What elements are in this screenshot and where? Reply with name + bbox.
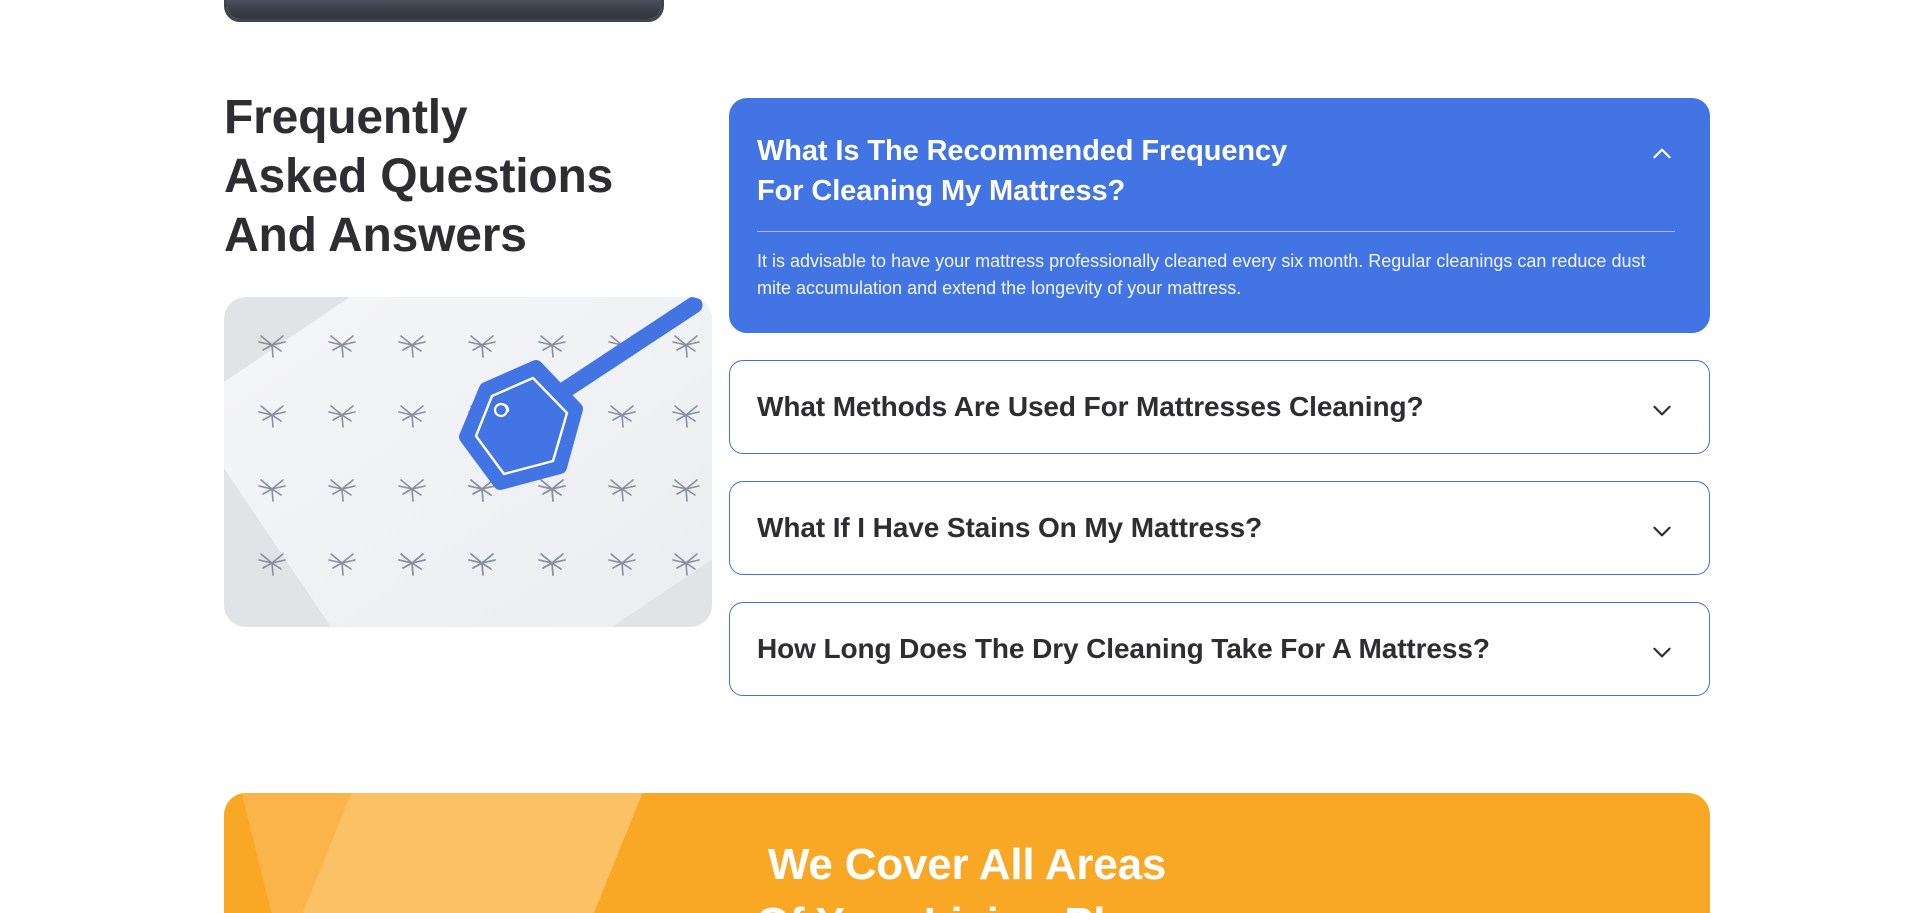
faq-item-1-answer: It is advisable to have your mattress pr… [730, 232, 1709, 328]
faq-page: Frequently Asked Questions And Answers [0, 0, 1920, 913]
faq-accordion: What Is The Recommended Frequency For Cl… [729, 98, 1710, 723]
vacuum-head-icon [224, 297, 712, 627]
chevron-down-icon[interactable] [1649, 518, 1675, 544]
faq-item-4[interactable]: How Long Does The Dry Cleaning Take For … [729, 602, 1710, 696]
faq-item-1-header[interactable]: What Is The Recommended Frequency For Cl… [730, 99, 1709, 225]
chevron-down-icon[interactable] [1649, 639, 1675, 665]
coverage-banner: We Cover All Areas Of Your Living Place [224, 793, 1710, 913]
faq-item-3[interactable]: What If I Have Stains On My Mattress? [729, 481, 1710, 575]
faq-item-1-question: What Is The Recommended Frequency For Cl… [757, 131, 1287, 211]
faq-item-1[interactable]: What Is The Recommended Frequency For Cl… [729, 98, 1710, 333]
faq-item-2-header[interactable]: What Methods Are Used For Mattresses Cle… [730, 361, 1709, 453]
page-title: Frequently Asked Questions And Answers [224, 88, 724, 265]
faq-item-4-question: How Long Does The Dry Cleaning Take For … [757, 629, 1490, 669]
faq-item-4-header[interactable]: How Long Does The Dry Cleaning Take For … [730, 603, 1709, 695]
mattress-image [224, 0, 664, 22]
faq-item-2[interactable]: What Methods Are Used For Mattresses Cle… [729, 360, 1710, 454]
mattress-base [227, 0, 664, 19]
mattress-photo [224, 0, 664, 26]
faq-item-3-header[interactable]: What If I Have Stains On My Mattress? [730, 482, 1709, 574]
faq-item-3-question: What If I Have Stains On My Mattress? [757, 508, 1262, 548]
cleaning-illustration [224, 297, 712, 627]
banner-title: We Cover All Areas Of Your Living Place [224, 835, 1710, 913]
faq-item-2-question: What Methods Are Used For Mattresses Cle… [757, 387, 1423, 427]
faq-left-column: Frequently Asked Questions And Answers [224, 88, 724, 265]
chevron-down-icon[interactable] [1649, 397, 1675, 423]
chevron-up-icon[interactable] [1649, 141, 1675, 167]
